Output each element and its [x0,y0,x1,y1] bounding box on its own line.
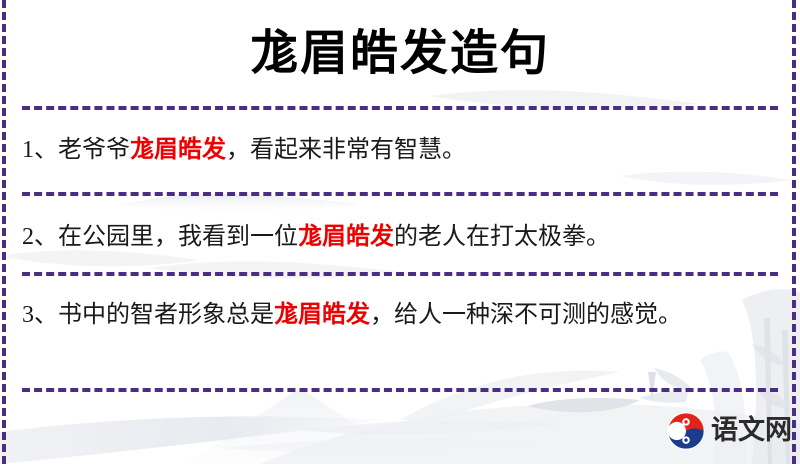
frame-border-right [792,0,796,464]
sentence-item-1: 1、老爷爷尨眉皓发，看起来非常有智慧。 [22,130,774,170]
page-title: 尨眉皓发造句 [0,22,800,84]
yinyang-circle-icon [667,412,705,450]
sentence-index-3: 3、 [22,302,58,328]
divider-4 [22,388,778,392]
keyword-highlight-2: 尨眉皓发 [298,224,394,250]
sentence-item-3: 3、书中的智者形象总是尨眉皓发，给人一种深不可测的感觉。 [22,295,774,335]
sentence-item-2: 2、在公园里，我看到一位尨眉皓发的老人在打太极拳。 [22,217,774,257]
sentence-text-after-1: ，看起来非常有智慧。 [226,137,466,163]
divider-1 [22,106,778,110]
sentence-text-after-2: 的老人在打太极拳。 [394,224,610,250]
sentence-text-before-1: 老爷爷 [58,137,130,163]
sentence-text-after-3: ，给人一种深不可测的感觉。 [370,302,682,328]
sentence-index-2: 2、 [22,224,58,250]
keyword-highlight-1: 尨眉皓发 [130,137,226,163]
site-watermark-text: 语文网 [711,412,792,450]
sentence-text-before-3: 书中的智者形象总是 [58,302,274,328]
frame-border-left [2,0,6,464]
sentence-text-before-2: 在公园里，我看到一位 [58,224,298,250]
page-root: 尨眉皓发造句 1、老爷爷尨眉皓发，看起来非常有智慧。 2、在公园里，我看到一位尨… [0,0,800,464]
keyword-highlight-3: 尨眉皓发 [274,302,370,328]
sentence-index-1: 1、 [22,137,58,163]
divider-3 [22,272,778,276]
site-watermark-logo: 语文网 [667,412,792,450]
divider-2 [22,192,778,196]
